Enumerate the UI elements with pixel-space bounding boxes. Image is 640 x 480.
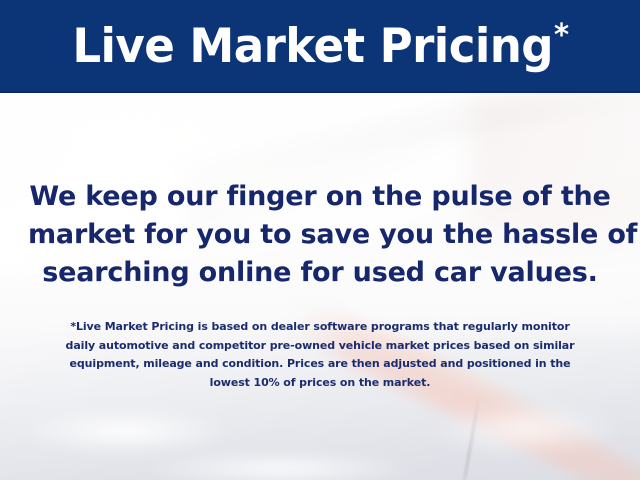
disclaimer: *Live Market Pricing is based on dealer … bbox=[28, 318, 612, 392]
headline: We keep our finger on the pulse of the m… bbox=[28, 178, 612, 292]
page-title-text: Live Market Pricing bbox=[72, 19, 553, 74]
headline-line-3: searching online for used car values. bbox=[28, 254, 612, 292]
disclaimer-line-2: daily automotive and competitor pre-owne… bbox=[28, 337, 612, 356]
page-title-asterisk: * bbox=[554, 18, 568, 53]
page-title: Live Market Pricing* bbox=[72, 23, 568, 70]
headline-line-1: We keep our finger on the pulse of the bbox=[28, 178, 612, 216]
headline-line-2: market for you to save you the hassle of bbox=[28, 216, 612, 254]
disclaimer-line-1: *Live Market Pricing is based on dealer … bbox=[28, 318, 612, 337]
disclaimer-line-4: lowest 10% of prices on the market. bbox=[28, 374, 612, 393]
disclaimer-line-3: equipment, mileage and condition. Prices… bbox=[28, 355, 612, 374]
live-market-pricing-banner: Live Market Pricing* We keep our finger … bbox=[0, 0, 640, 480]
header-bar: Live Market Pricing* bbox=[0, 0, 640, 93]
